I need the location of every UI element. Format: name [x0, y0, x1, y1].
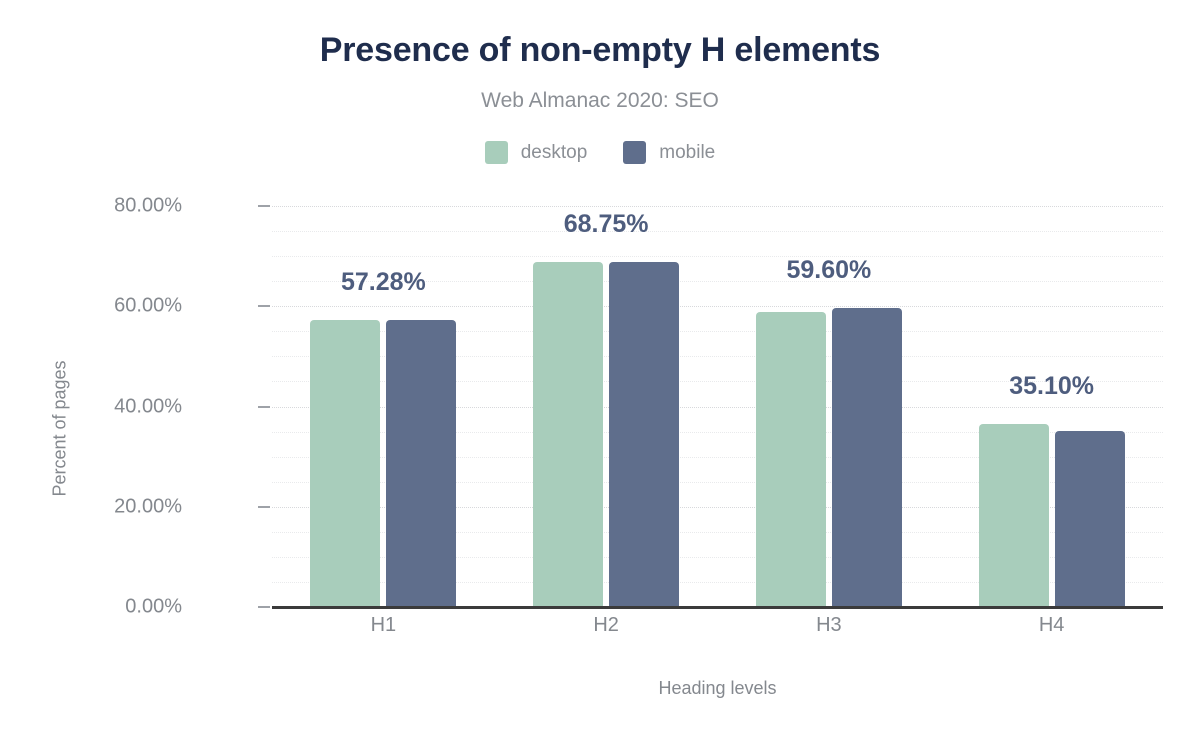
- bar-value-label: 59.60%: [786, 256, 871, 285]
- x-axis-tick-label-h2: H2: [506, 614, 706, 637]
- x-axis-tick-label-h1: H1: [283, 614, 483, 637]
- y-axis-tick-mark: [258, 606, 270, 608]
- bar-value-label: 35.10%: [1009, 372, 1094, 401]
- x-axis-tick-label-h4: H4: [952, 614, 1152, 637]
- legend-swatch-mobile: [623, 141, 646, 164]
- y-axis-tick-mark: [258, 406, 270, 408]
- legend-label-desktop: desktop: [521, 142, 588, 164]
- bar-value-label: 57.28%: [341, 268, 426, 297]
- y-axis-tick-mark: [258, 205, 270, 207]
- y-axis-tick-mark: [258, 506, 270, 508]
- legend-item-mobile[interactable]: mobile: [623, 141, 715, 164]
- y-axis-tick-label: 80.00%: [62, 195, 182, 218]
- legend-label-mobile: mobile: [659, 142, 715, 164]
- y-axis-tick-label: 60.00%: [62, 295, 182, 318]
- chart-container: Presence of non-empty H elements Web Alm…: [0, 0, 1200, 742]
- bar-desktop-h4[interactable]: [979, 424, 1049, 607]
- bar-mobile-h1[interactable]: [386, 320, 456, 607]
- y-axis-tick-mark: [258, 305, 270, 307]
- y-axis-tick-label: 0.00%: [62, 596, 182, 619]
- y-axis-tick-label: 40.00%: [62, 395, 182, 418]
- bar-group: [272, 206, 495, 607]
- bar-mobile-h3[interactable]: [832, 308, 902, 607]
- bar-group: [495, 206, 718, 607]
- chart-legend: desktop mobile: [0, 141, 1200, 164]
- x-axis-line: [272, 606, 1163, 609]
- y-axis-title: Percent of pages: [50, 349, 71, 509]
- legend-swatch-desktop: [485, 141, 508, 164]
- chart-subtitle: Web Almanac 2020: SEO: [0, 89, 1200, 113]
- bar-desktop-h2[interactable]: [533, 262, 603, 607]
- plot-area: [272, 206, 1163, 607]
- bar-group: [940, 206, 1163, 607]
- bar-desktop-h3[interactable]: [756, 312, 826, 607]
- y-axis-tick-label: 20.00%: [62, 495, 182, 518]
- legend-item-desktop[interactable]: desktop: [485, 141, 588, 164]
- bar-mobile-h2[interactable]: [609, 262, 679, 607]
- bar-value-label: 68.75%: [564, 210, 649, 239]
- x-axis-tick-label-h3: H3: [729, 614, 929, 637]
- x-axis-title: Heading levels: [272, 678, 1163, 699]
- chart-title: Presence of non-empty H elements: [0, 31, 1200, 70]
- bar-desktop-h1[interactable]: [310, 320, 380, 607]
- bar-mobile-h4[interactable]: [1055, 431, 1125, 607]
